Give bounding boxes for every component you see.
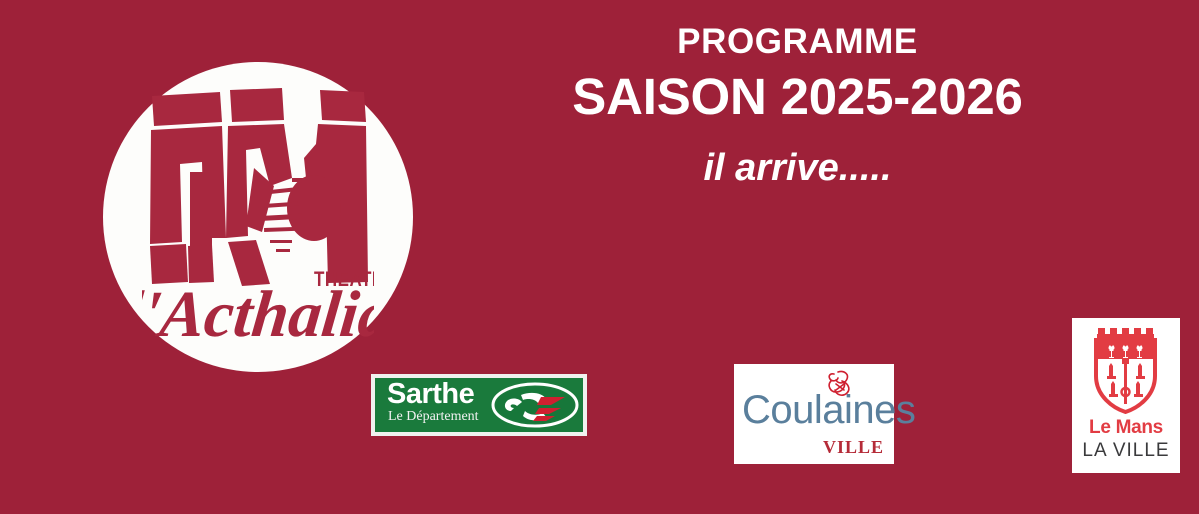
coulaines-subtitle: VILLE	[823, 438, 884, 456]
sarthe-emblem-icon	[491, 381, 579, 429]
season-title: SAISON 2025-2026	[470, 68, 1125, 125]
acthalia-theatre-kicker: THEATRE	[314, 268, 374, 291]
season-programme-banner: l'Acthalia THEATRE PROGRAMME SAISON 2025…	[0, 0, 1199, 514]
lemans-subtitle: LA VILLE	[1072, 441, 1180, 460]
acthalia-woodcut-mark: l'Acthalia THEATRE	[142, 86, 374, 348]
lemans-name: Le Mans	[1072, 418, 1180, 437]
coulaines-name: Coulaines	[742, 390, 915, 430]
partner-logo-coulaines[interactable]: Coulaines VILLE	[734, 364, 894, 464]
sarthe-name: Sarthe	[387, 380, 474, 409]
headline-block: PROGRAMME SAISON 2025-2026 il arrive....…	[470, 22, 1125, 191]
acthalia-theatre-logo[interactable]: l'Acthalia THEATRE	[103, 62, 413, 372]
partner-logo-sarthe[interactable]: Sarthe Le Département	[371, 374, 587, 436]
programme-label: PROGRAMME	[470, 22, 1125, 62]
partner-logo-lemans[interactable]: Le Mans LA VILLE	[1072, 318, 1180, 473]
tagline: il arrive.....	[470, 147, 1125, 191]
lemans-shield-icon	[1088, 326, 1164, 414]
sarthe-green-plate: Sarthe Le Département	[375, 378, 583, 432]
sarthe-subtitle: Le Département	[388, 410, 479, 424]
